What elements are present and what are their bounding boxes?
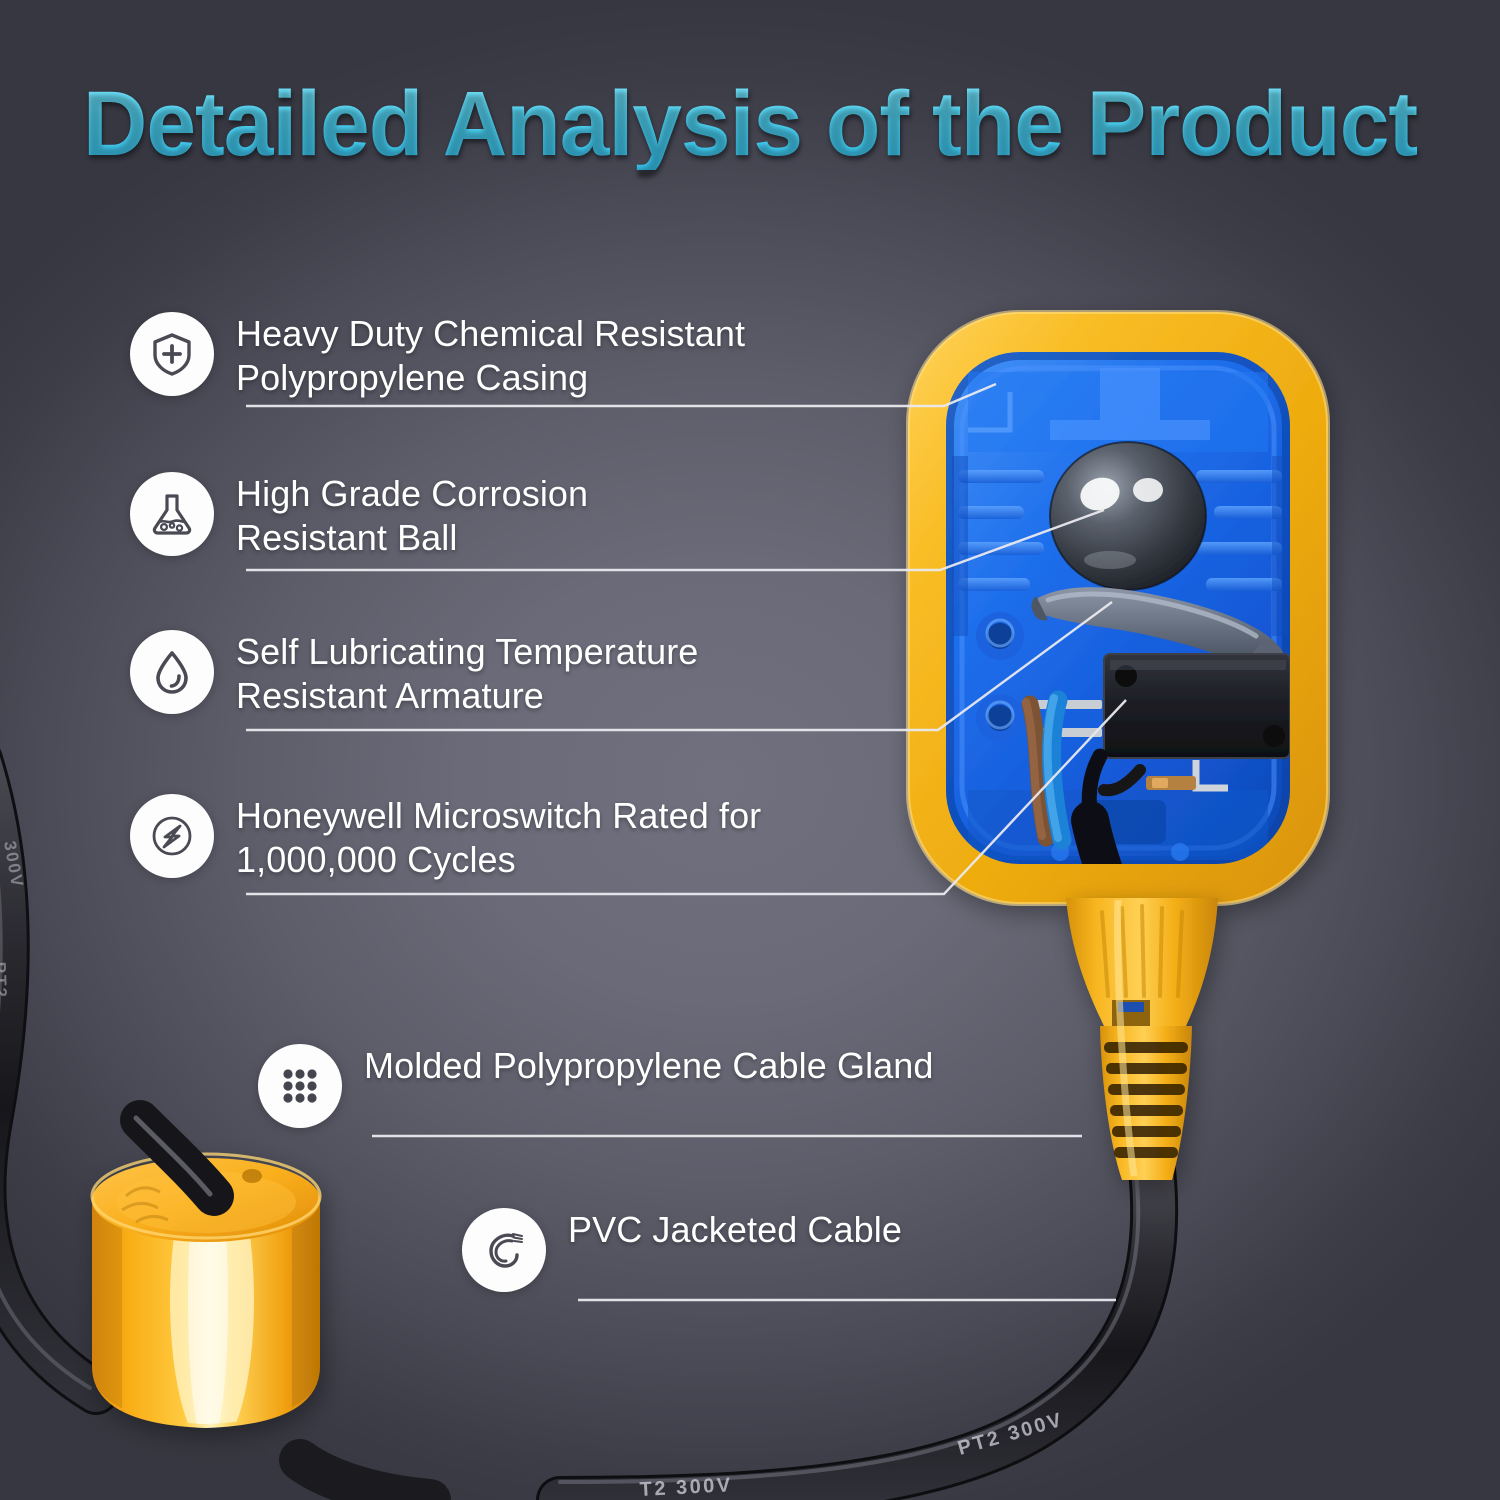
shield-plus-icon — [130, 312, 214, 396]
feature-label: Honeywell Microswitch Rated for 1,000,00… — [236, 794, 761, 882]
feature-label: PVC Jacketed Cable — [568, 1208, 902, 1252]
cable-gland — [1066, 898, 1218, 1180]
float-switch-body — [908, 312, 1328, 904]
cable-left-segment: 300V PT2 — [0, 760, 96, 1392]
feature-microswitch: Honeywell Microswitch Rated for 1,000,00… — [130, 792, 761, 882]
dot-grid-icon — [258, 1044, 342, 1128]
feature-armature: Self Lubricating Temperature Resistant A… — [130, 628, 698, 718]
feature-pvc-cable: PVC Jacketed Cable — [462, 1206, 902, 1292]
lightning-bolt-icon — [130, 794, 214, 878]
feature-cable-gland: Molded Polypropylene Cable Gland — [258, 1042, 934, 1128]
steel-ball — [1050, 442, 1206, 590]
flask-icon — [130, 472, 214, 556]
feature-label: Heavy Duty Chemical Resistant Polypropyl… — [236, 312, 745, 400]
feature-label: High Grade Corrosion Resistant Ball — [236, 472, 588, 560]
feature-label: Self Lubricating Temperature Resistant A… — [236, 630, 698, 718]
infographic-canvas: Detailed Analysis of the Product Detaile… — [0, 0, 1500, 1500]
svg-text:PT2: PT2 — [0, 961, 10, 999]
water-droplet-icon — [130, 630, 214, 714]
feature-ball: High Grade Corrosion Resistant Ball — [130, 470, 588, 560]
svg-text:T2 300V: T2 300V — [639, 1474, 733, 1500]
feature-label: Molded Polypropylene Cable Gland — [364, 1044, 934, 1088]
feature-casing: Heavy Duty Chemical Resistant Polypropyl… — [130, 310, 745, 400]
coiled-cable-icon — [462, 1208, 546, 1292]
